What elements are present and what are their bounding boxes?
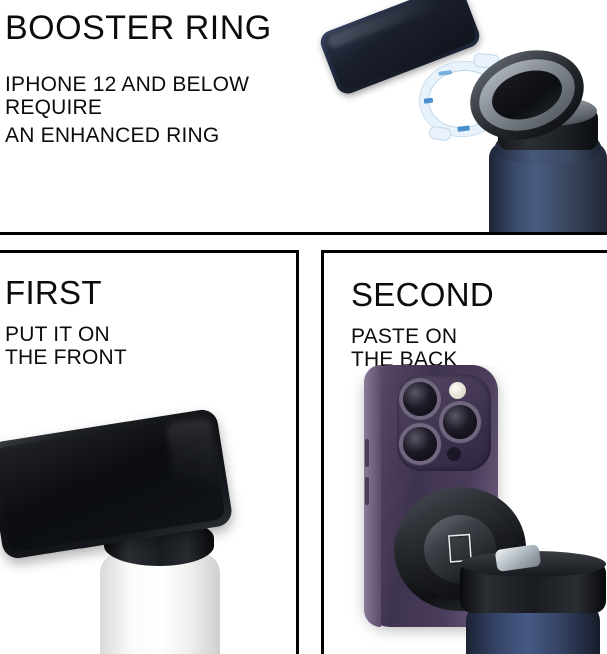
camera-module [397, 375, 491, 471]
phone-volume-down-button [365, 477, 369, 505]
step-body-first-line-2: THE FRONT [5, 346, 127, 369]
booster-ring-pull-tab [428, 125, 452, 141]
top-section: BOOSTER RING IPHONE 12 AND BELOW REQUIRE… [0, 0, 607, 233]
second-step-photo:  [342, 365, 607, 654]
top-body-line-3: AN ENHANCED RING [5, 125, 305, 148]
step-title-second: SECOND [351, 277, 494, 313]
camera-lens-icon [403, 427, 437, 461]
step-title-first: FIRST [5, 275, 102, 311]
top-section-text: BOOSTER RING IPHONE 12 AND BELOW REQUIRE… [5, 8, 305, 148]
step-body-second-line-1: PASTE ON [351, 325, 458, 348]
page-title: BOOSTER RING [5, 8, 305, 48]
step-panel-first: FIRST PUT IT ON THE FRONT [0, 250, 299, 654]
step-body-first-line-1: PUT IT ON [5, 323, 127, 346]
camera-flash-icon [449, 382, 466, 399]
top-body-line-1: IPHONE 12 AND BELOW [5, 74, 305, 97]
first-step-photo [0, 403, 293, 654]
top-product-photo [310, 0, 607, 233]
step-body-first: PUT IT ON THE FRONT [5, 323, 127, 369]
top-section-body: IPHONE 12 AND BELOW REQUIRE AN ENHANCED … [5, 74, 305, 148]
camera-lens-icon [443, 405, 477, 439]
phone-volume-up-button [365, 439, 369, 467]
step-panel-second: SECOND PASTE ON THE BACK [321, 250, 607, 654]
top-body-line-2: REQUIRE [5, 97, 305, 120]
section-divider [0, 232, 607, 235]
white-bottle-body [100, 553, 220, 654]
infographic-page: BOOSTER RING IPHONE 12 AND BELOW REQUIRE… [0, 0, 607, 651]
phone-screen-glare [326, 0, 443, 49]
lidar-sensor-icon [447, 447, 461, 461]
camera-lens-icon [403, 382, 437, 416]
navy-bottle-with-magnetic-cap-image [465, 52, 605, 233]
